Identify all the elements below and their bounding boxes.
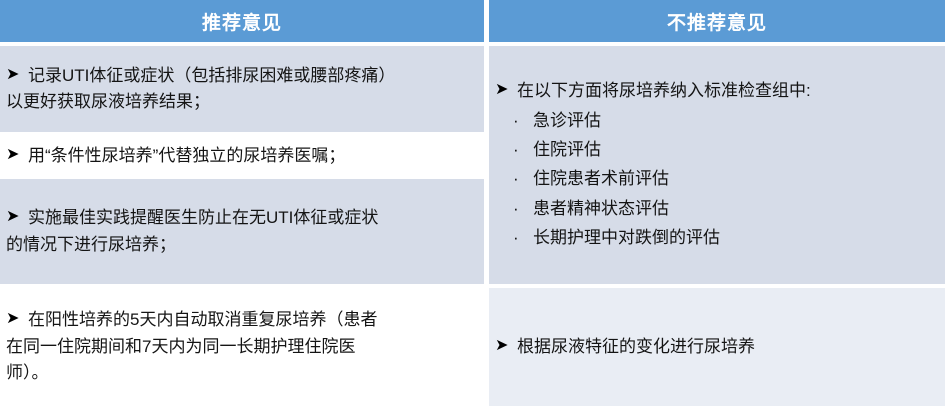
table-row: ➤ 记录UTI体征或症状（包括排尿困难或腰部疼痛） 以更好获取尿液培养结果； ➤… <box>0 46 945 132</box>
list-item: · 住院评估 <box>495 135 935 164</box>
right-cell-row-2: ➤ 根据尿液特征的变化进行尿培养 <box>489 288 945 406</box>
list-item: · 患者精神状态评估 <box>495 194 935 223</box>
bullet-dot-icon: · <box>513 135 519 164</box>
cell-text-line: 实施最佳实践提醒医生防止在无UTI体征或症状 <box>28 205 474 231</box>
bullet-dot-icon: · <box>513 164 519 193</box>
arrow-list-item: ➤ 在以下方面将尿培养纳入标准检查组中: <box>495 78 935 104</box>
cell-text-line: 的情况下进行尿培养； <box>6 232 474 258</box>
header-cell-not-recommended: 不推荐意见 <box>489 0 945 42</box>
arrow-list-item: ➤ 记录UTI体征或症状（包括排尿困难或腰部疼痛） 以更好获取尿液培养结果； <box>6 63 474 116</box>
sub-bullet-list: · 急诊评估 · 住院评估 · 住院患者术前评估 · <box>495 106 935 252</box>
header-row: 推荐意见 不推荐意见 <box>0 0 945 42</box>
table-header: 推荐意见 不推荐意见 <box>0 0 945 42</box>
bullet-dot-icon: · <box>513 194 519 223</box>
table-body: ➤ 记录UTI体征或症状（包括排尿困难或腰部疼痛） 以更好获取尿液培养结果； ➤… <box>0 42 945 406</box>
arrow-icon: ➤ <box>495 334 508 359</box>
left-cell-row-2: ➤ 用“条件性尿培养”代替独立的尿培养医嘱； <box>0 132 484 179</box>
cell-text-line: 记录UTI体征或症状（包括排尿困难或腰部疼痛） <box>28 63 474 89</box>
list-item-label: 长期护理中对跌倒的评估 <box>533 228 720 247</box>
cell-text-line: 根据尿液特征的变化进行尿培养 <box>517 334 935 360</box>
arrow-icon: ➤ <box>6 307 19 332</box>
cell-text-line: 在阳性培养的5天内自动取消重复尿培养（患者 <box>28 307 474 333</box>
left-cell-row-3: ➤ 实施最佳实践提醒医生防止在无UTI体征或症状 的情况下进行尿培养； <box>0 179 484 283</box>
arrow-list-item: ➤ 根据尿液特征的变化进行尿培养 <box>495 334 935 360</box>
cell-text-line: 在同一住院期间和7天内为同一长期护理住院医 <box>6 334 474 360</box>
left-cell-row-4: ➤ 在阳性培养的5天内自动取消重复尿培养（患者 在同一住院期间和7天内为同一长期… <box>0 288 484 406</box>
cell-text-line: 以更好获取尿液培养结果； <box>6 89 474 115</box>
arrow-list-item: ➤ 实施最佳实践提醒医生防止在无UTI体征或症状 的情况下进行尿培养； <box>6 205 474 258</box>
list-item: · 住院患者术前评估 <box>495 164 935 193</box>
list-item-label: 住院评估 <box>533 140 601 159</box>
cell-heading-text: 在以下方面将尿培养纳入标准检查组中: <box>517 78 935 104</box>
arrow-list-item: ➤ 在阳性培养的5天内自动取消重复尿培养（患者 在同一住院期间和7天内为同一长期… <box>6 307 474 386</box>
cell-text-line: 用“条件性尿培养”代替独立的尿培养医嘱； <box>28 143 474 169</box>
list-item-label: 住院患者术前评估 <box>533 169 669 188</box>
list-item: · 急诊评估 <box>495 106 935 135</box>
arrow-icon: ➤ <box>495 78 508 103</box>
left-cell-row-1: ➤ 记录UTI体征或症状（包括排尿困难或腰部疼痛） 以更好获取尿液培养结果； <box>0 46 484 132</box>
comparison-table-container: 推荐意见 不推荐意见 ➤ 记录UTI体征或症状（包括排尿困难或腰部疼痛） 以更好… <box>0 0 945 406</box>
arrow-icon: ➤ <box>6 143 19 168</box>
arrow-list-item: ➤ 用“条件性尿培养”代替独立的尿培养医嘱； <box>6 143 474 169</box>
bullet-dot-icon: · <box>513 106 519 135</box>
list-item-label: 患者精神状态评估 <box>533 199 669 218</box>
header-cell-recommended: 推荐意见 <box>0 0 484 42</box>
list-item-label: 急诊评估 <box>533 111 601 130</box>
arrow-icon: ➤ <box>6 205 19 230</box>
table-row: ➤ 在阳性培养的5天内自动取消重复尿培养（患者 在同一住院期间和7天内为同一长期… <box>0 288 945 406</box>
recommendation-comparison-table: 推荐意见 不推荐意见 ➤ 记录UTI体征或症状（包括排尿困难或腰部疼痛） 以更好… <box>0 0 945 406</box>
arrow-icon: ➤ <box>6 63 19 88</box>
cell-text-line: 师）。 <box>6 360 474 386</box>
bullet-dot-icon: · <box>513 223 519 252</box>
right-cell-row-1: ➤ 在以下方面将尿培养纳入标准检查组中: · 急诊评估 · 住院评估 <box>489 46 945 284</box>
list-item: · 长期护理中对跌倒的评估 <box>495 223 935 252</box>
